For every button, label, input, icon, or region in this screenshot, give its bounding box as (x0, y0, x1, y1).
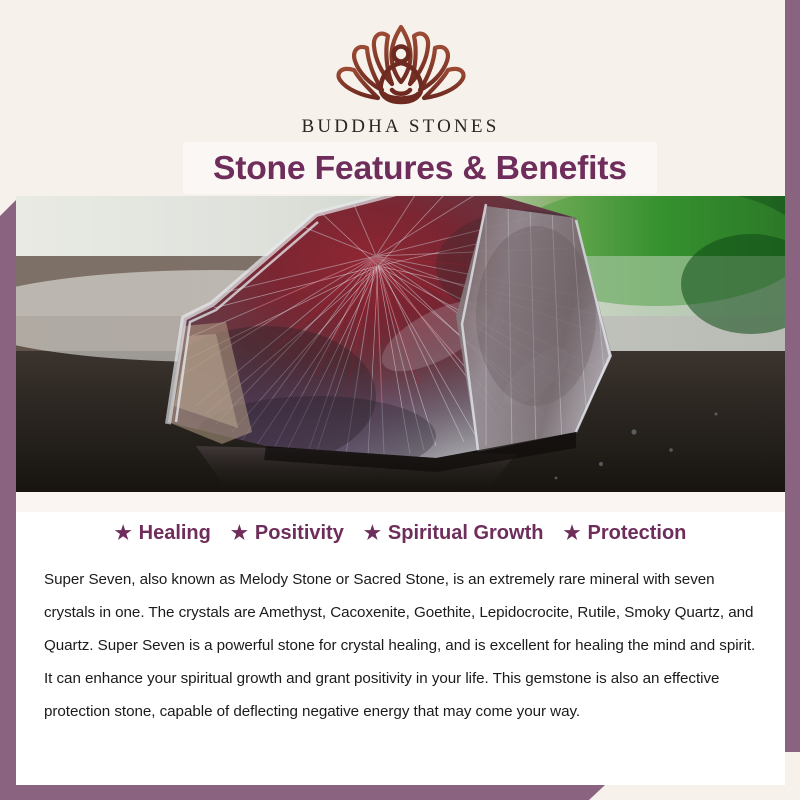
infographic-page: BUDDHA STONES Stone Features & Benefits (0, 0, 800, 800)
benefit-label: Positivity (255, 522, 344, 545)
frame-right-bar (785, 0, 800, 800)
star-icon: ★ (364, 524, 381, 543)
frame-left-bar (0, 200, 16, 800)
star-icon: ★ (115, 524, 132, 543)
description-paragraph: Super Seven, also known as Melody Stone … (44, 563, 757, 728)
lotus-meditation-icon (326, 22, 476, 114)
benefit-item: ★ Protection (563, 522, 686, 545)
benefit-label: Spiritual Growth (388, 522, 544, 545)
benefits-row: ★ Healing ★ Positivity ★ Spiritual Growt… (44, 522, 757, 545)
benefit-item: ★ Healing (115, 522, 211, 545)
star-icon: ★ (563, 524, 580, 543)
brand-name: BUDDHA STONES (301, 116, 499, 138)
benefit-item: ★ Spiritual Growth (364, 522, 544, 545)
title-plate: Stone Features & Benefits (183, 142, 657, 194)
frame-bottom-bar (0, 785, 605, 800)
benefit-label: Healing (139, 522, 211, 545)
header-section: BUDDHA STONES Stone Features & Benefits (16, 0, 785, 196)
star-icon: ★ (231, 524, 248, 543)
page-title: Stone Features & Benefits (213, 149, 627, 187)
benefit-item: ★ Positivity (231, 522, 344, 545)
content-card: ★ Healing ★ Positivity ★ Spiritual Growt… (16, 492, 785, 785)
frame-right-notch (785, 752, 800, 800)
crystal-photo: Super Seven Crystal (16, 196, 785, 492)
brand-logo: BUDDHA STONES (16, 22, 785, 138)
card-top-tint (16, 492, 785, 512)
benefit-label: Protection (588, 522, 687, 545)
